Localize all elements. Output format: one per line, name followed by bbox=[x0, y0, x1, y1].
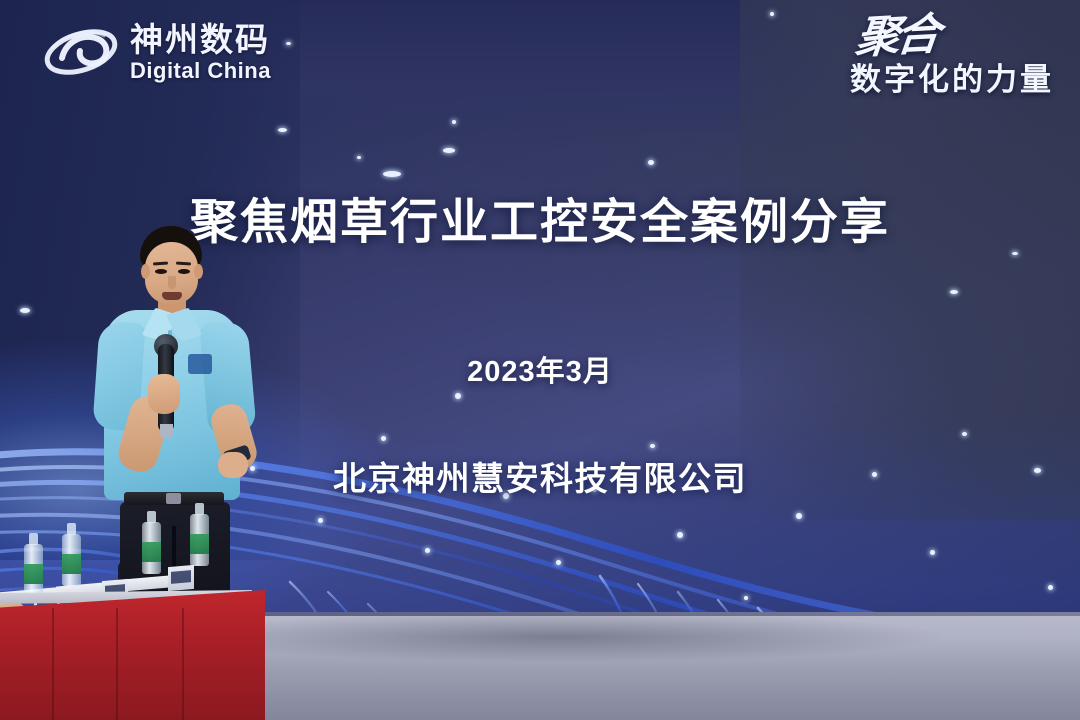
speaker-mouth bbox=[162, 292, 182, 300]
speaker-ear-right bbox=[194, 264, 203, 279]
speaker-hand-left bbox=[148, 374, 180, 414]
stage-floor-shadow bbox=[180, 612, 940, 662]
table-red-skirt bbox=[0, 590, 265, 720]
brand-logo: 神州数码 Digital China bbox=[42, 18, 271, 86]
head-table bbox=[0, 570, 270, 720]
conference-photo: 神州数码 Digital China 聚合 数字化的力量 聚焦烟草行业工控安全案… bbox=[0, 0, 1080, 720]
brand-name-cn: 神州数码 bbox=[130, 23, 271, 56]
speaker-eye-left bbox=[155, 269, 167, 274]
bottle-label bbox=[62, 554, 81, 574]
bottle-label bbox=[190, 534, 209, 554]
speaker-nose bbox=[168, 276, 176, 289]
bottle-label bbox=[142, 542, 161, 562]
speaker-ear-left bbox=[141, 264, 150, 279]
water-bottle bbox=[190, 514, 209, 566]
spiral-galaxy-icon bbox=[42, 18, 120, 86]
water-bottle bbox=[142, 522, 161, 574]
name-card bbox=[168, 565, 194, 591]
speaker-chest-logo bbox=[188, 354, 212, 374]
speaker-belt-buckle bbox=[166, 493, 181, 504]
slogan-brush-text: 聚合 bbox=[847, 14, 938, 60]
name-card-text bbox=[171, 570, 191, 584]
bottle-label bbox=[24, 564, 43, 584]
brand-name-en: Digital China bbox=[130, 60, 271, 82]
microphone-tip bbox=[160, 424, 173, 438]
speaker-eye-right bbox=[178, 269, 190, 274]
water-bottle bbox=[24, 544, 43, 596]
water-bottle bbox=[62, 534, 81, 586]
speaker-hand-right bbox=[218, 452, 248, 478]
event-slogan: 聚合 数字化的力量 bbox=[850, 16, 1054, 99]
